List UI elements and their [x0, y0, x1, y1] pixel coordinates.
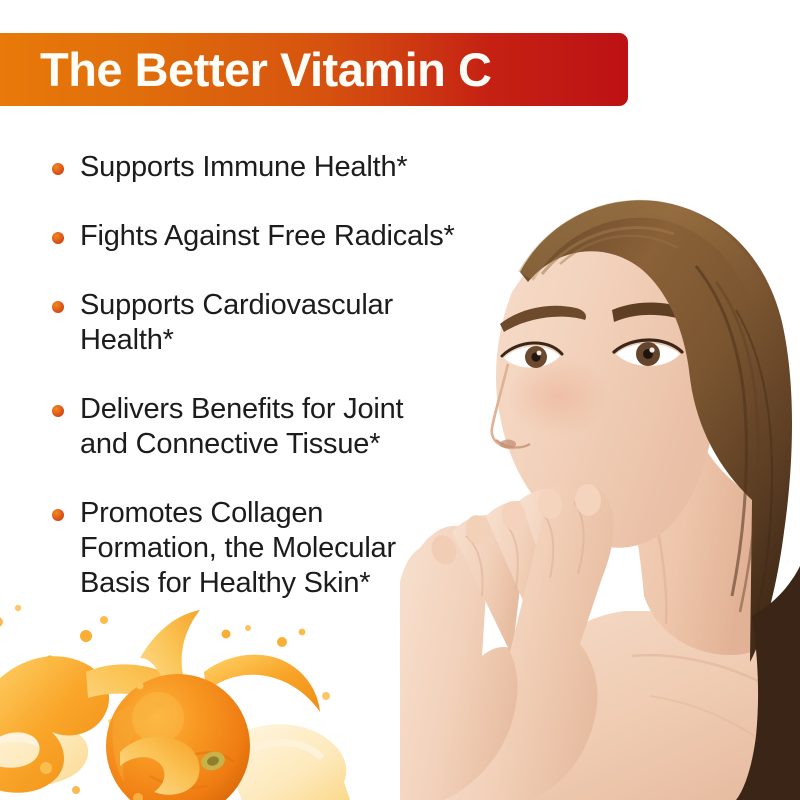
benefit-item-collagen: Promotes Collagen Formation, the Molecul… — [44, 496, 474, 601]
bullet-dot-icon — [52, 405, 64, 417]
benefit-label: Promotes Collagen Formation, the Molecul… — [80, 497, 396, 599]
benefit-item-free-radicals: Fights Against Free Radicals* — [44, 219, 474, 254]
bullet-dot-icon — [52, 509, 64, 521]
benefit-label: Delivers Benefits for Joint and Connecti… — [80, 393, 403, 460]
benefit-item-cardiovascular: Supports Cardiovascular Health* — [44, 288, 474, 358]
bullet-dot-icon — [52, 232, 64, 244]
orange-juice-splash-image — [0, 600, 350, 800]
header-banner: The Better Vitamin C — [0, 33, 628, 106]
page-title: The Better Vitamin C — [0, 46, 491, 93]
benefits-list: Supports Immune Health* Fights Against F… — [44, 150, 474, 601]
benefit-label: Supports Immune Health* — [80, 151, 407, 183]
vitamin-c-product-poster: The Better Vitamin C Supports Immune Hea… — [0, 0, 800, 800]
benefit-label: Fights Against Free Radicals* — [80, 220, 455, 252]
benefit-item-immune: Supports Immune Health* — [44, 150, 474, 185]
benefit-label: Supports Cardiovascular Health* — [80, 289, 393, 356]
bullet-dot-icon — [52, 301, 64, 313]
benefit-item-joint-tissue: Delivers Benefits for Joint and Connecti… — [44, 392, 474, 462]
bullet-dot-icon — [52, 163, 64, 175]
